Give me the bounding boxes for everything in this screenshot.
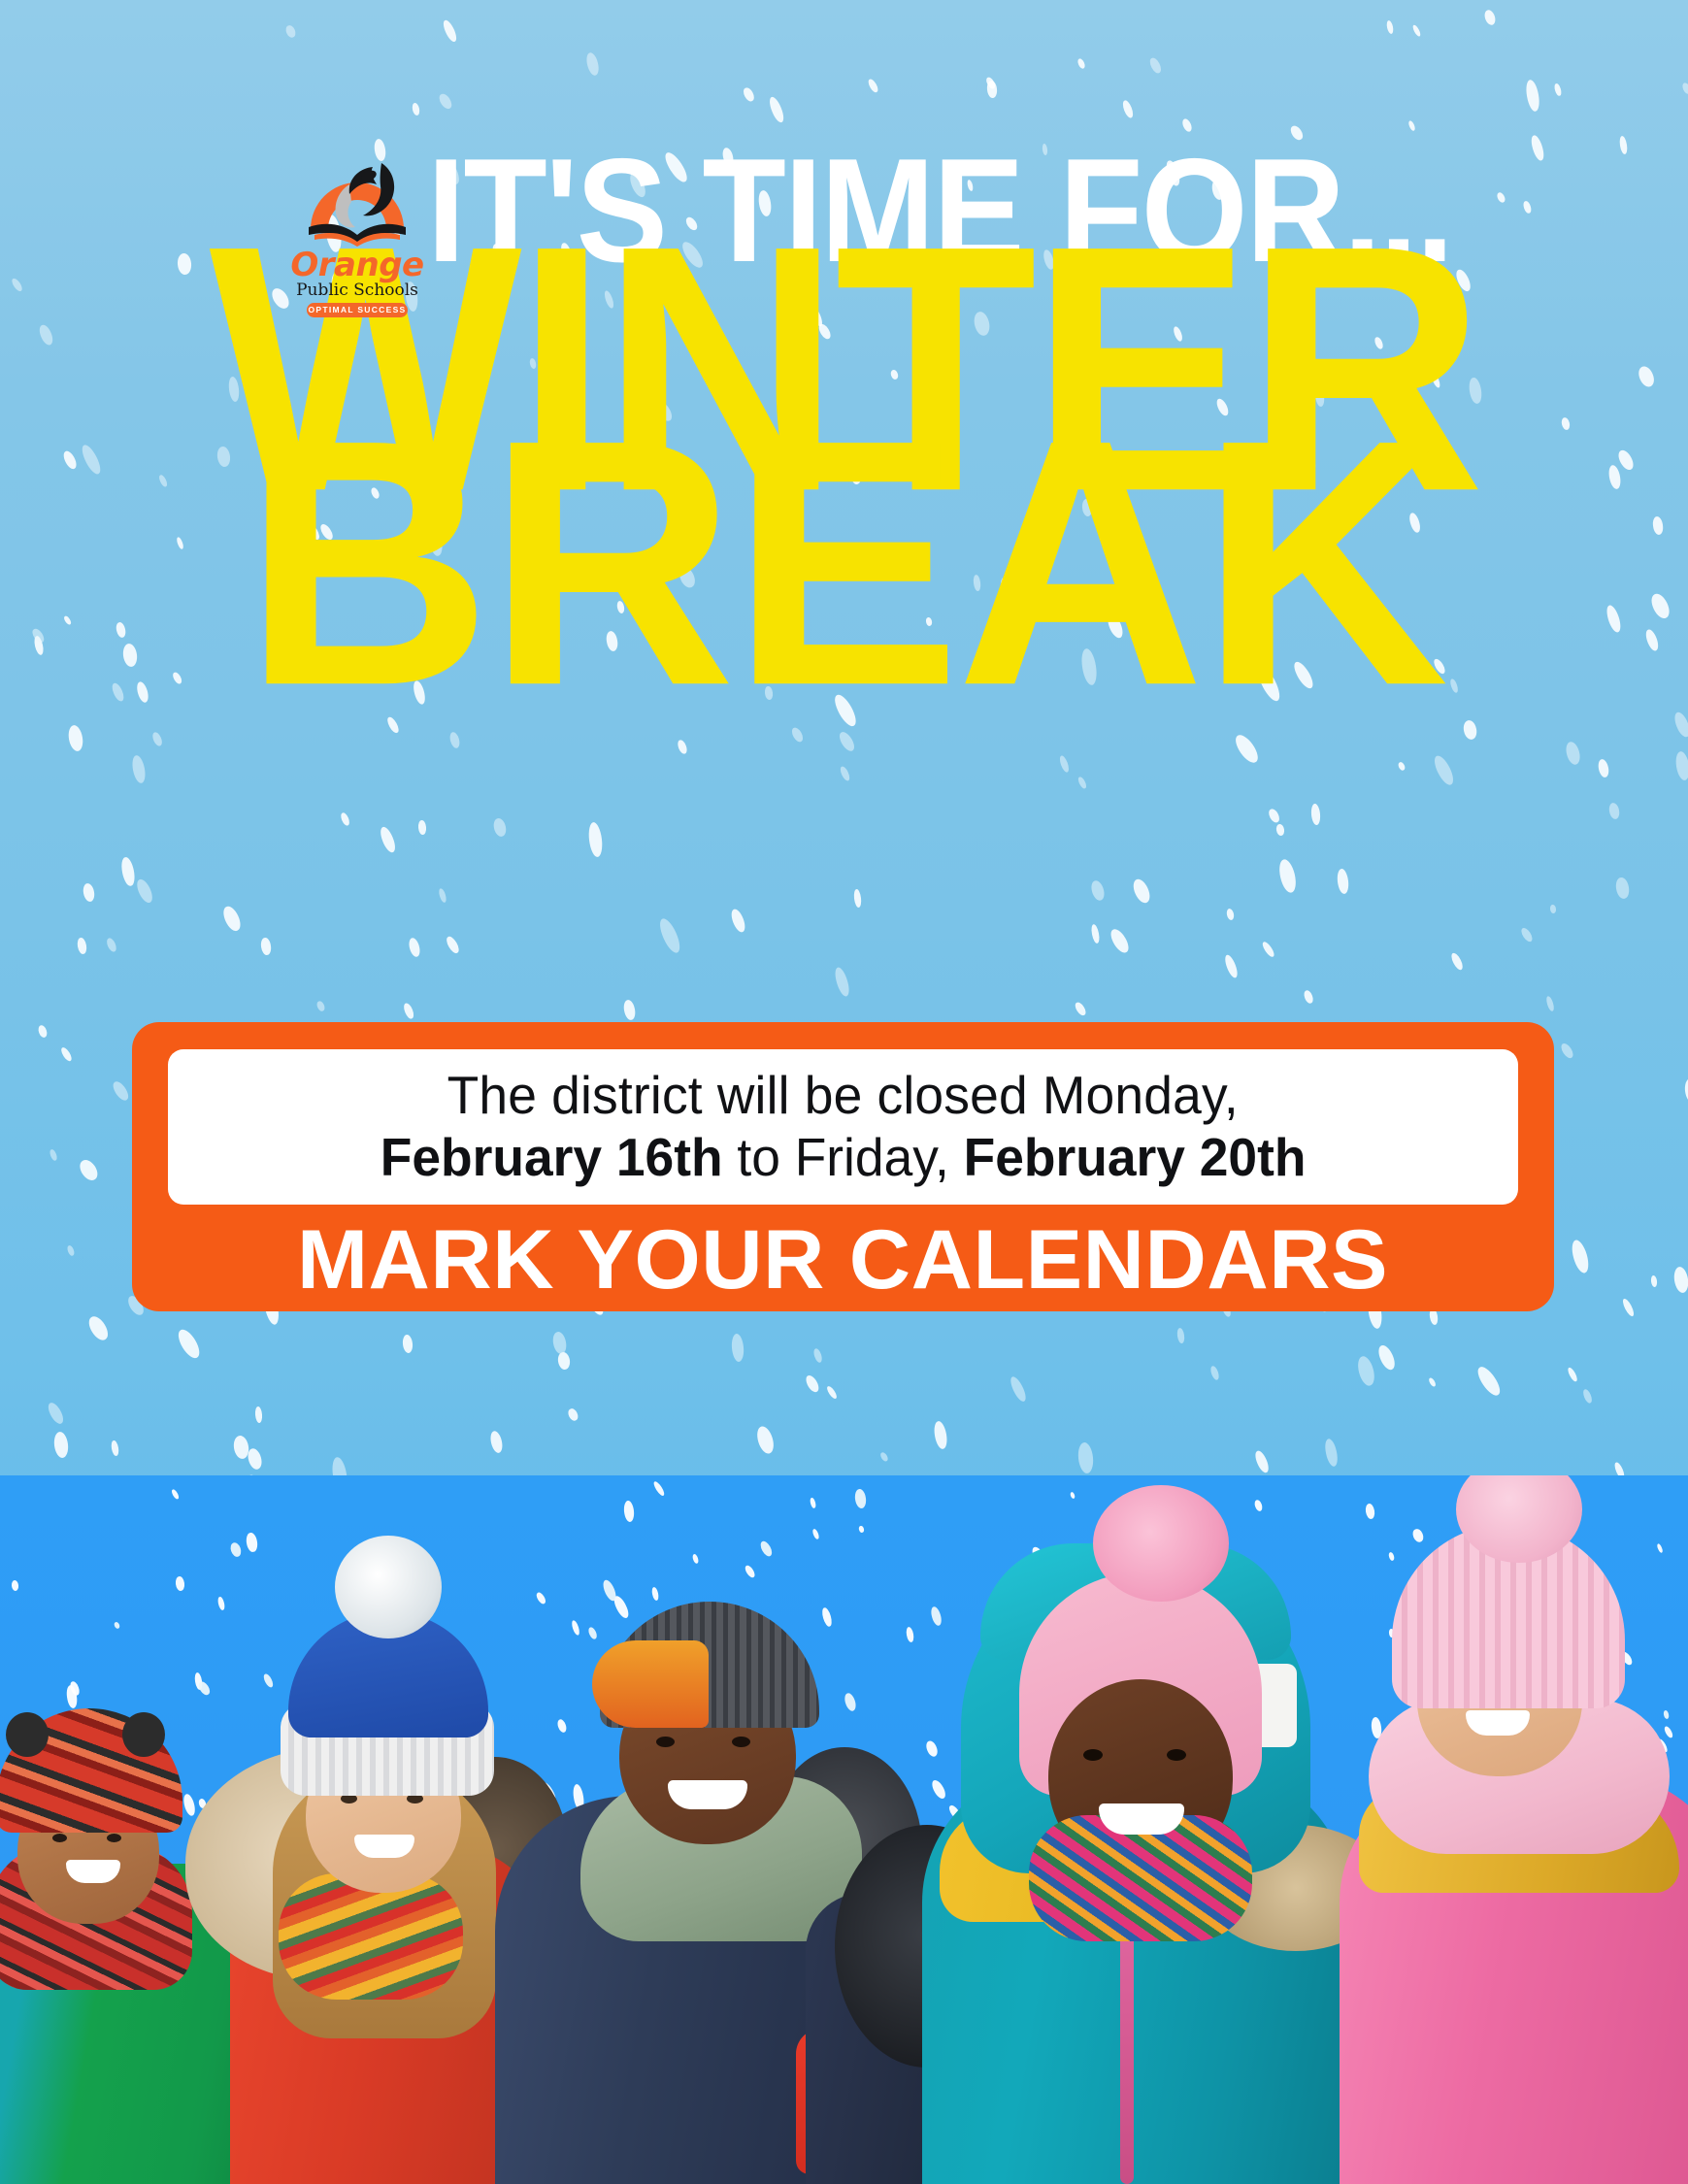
notice-line-1: The district will be closed Monday, <box>447 1066 1239 1126</box>
snowflake <box>11 1580 18 1591</box>
logo-tagline: OPTIMAL SUCCESS <box>307 303 408 317</box>
school-district-logo: Orange Public Schools OPTIMAL SUCCESS <box>289 146 425 301</box>
snowflake <box>652 1480 667 1498</box>
child-1-eye-right <box>107 1834 121 1842</box>
snowflake <box>114 1621 120 1629</box>
snowflake <box>171 1489 180 1501</box>
child-1-earflap-right <box>122 1712 165 1757</box>
notice-connector: to Friday, <box>722 1127 963 1187</box>
child-4-eye-right <box>1167 1749 1186 1761</box>
notice-date-end: February 20th <box>964 1127 1307 1187</box>
child-1-eye-left <box>52 1834 67 1842</box>
child-2-smile <box>354 1835 414 1858</box>
child-2-hat-pom <box>335 1536 442 1638</box>
call-to-action: MARK YOUR CALENDARS <box>297 1218 1388 1302</box>
child-3-eye-left <box>656 1737 675 1747</box>
child-3-eye-right <box>732 1737 750 1747</box>
child-4-hat-pom <box>1093 1485 1229 1602</box>
child-5-smile <box>1466 1710 1530 1736</box>
title-line-break: BREAK <box>0 424 1688 705</box>
child-1-smile <box>66 1860 120 1883</box>
child-1-earflap-left <box>6 1712 49 1757</box>
child-4-eye-left <box>1083 1749 1103 1761</box>
children-photo <box>0 1475 1688 2184</box>
child-2-scarf <box>279 1873 463 2000</box>
child-5 <box>1340 1495 1688 2184</box>
notice-date-start: February 16th <box>381 1127 723 1187</box>
child-3-hat-brim <box>592 1640 709 1728</box>
winter-break-poster: Orange Public Schools OPTIMAL SUCCESS IT… <box>0 0 1688 2184</box>
child-4-smile <box>1099 1803 1184 1835</box>
notice-line-2: February 16th to Friday, February 20th <box>381 1128 1307 1188</box>
orange-public-schools-logo-icon <box>289 146 425 252</box>
notice-card: The district will be closed Monday, Febr… <box>132 1022 1554 1311</box>
logo-subtitle: Public Schools <box>289 282 425 300</box>
child-3-smile <box>668 1780 747 1809</box>
notice-card-inner: The district will be closed Monday, Febr… <box>168 1049 1518 1205</box>
logo-name: Orange <box>289 248 425 281</box>
